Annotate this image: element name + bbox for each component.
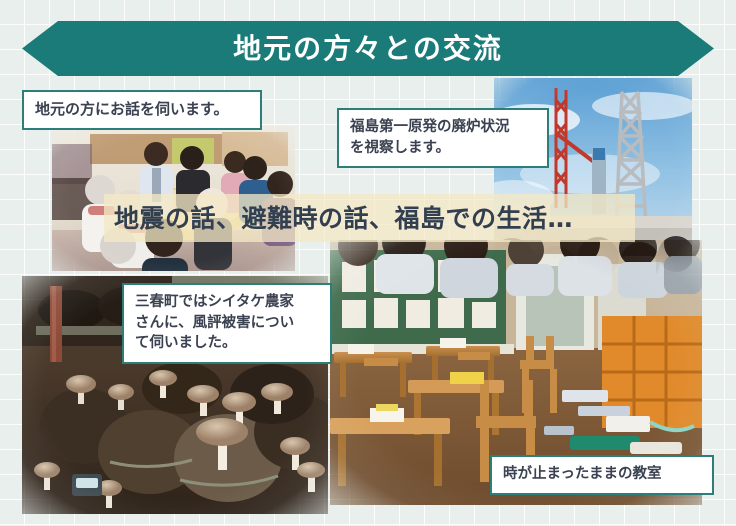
caption-frozen-classroom: 時が止まったままの教室 <box>490 455 714 495</box>
caption-nuclear-plant-inspection: 福島第一原発の廃炉状況 を視察します。 <box>337 108 549 168</box>
caption-local-residents: 地元の方にお話を伺います。 <box>22 90 262 130</box>
headline-text: 地震の話、避難時の話、福島での生活… <box>114 206 573 231</box>
title-ribbon: 地元の方々との交流 <box>22 21 714 76</box>
page-title: 地元の方々との交流 <box>233 35 503 63</box>
slide-canvas: 地元の方々との交流 <box>0 0 736 526</box>
caption-shiitake-farmer: 三春町ではシイタケ農家 さんに、風評被害につい て伺いました。 <box>122 283 332 364</box>
headline-band: 地震の話、避難時の話、福島での生活… <box>104 194 635 242</box>
